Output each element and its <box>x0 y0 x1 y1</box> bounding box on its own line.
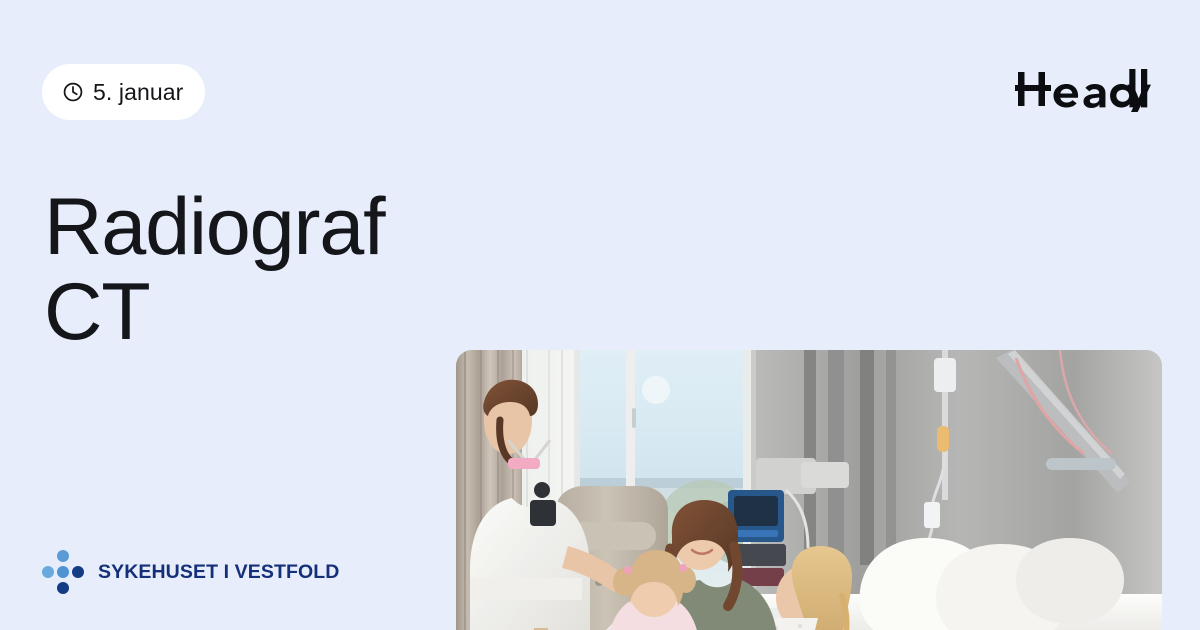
dot-bottom-icon <box>57 582 69 594</box>
article-photo <box>456 350 1162 630</box>
dot-right-icon <box>72 566 84 578</box>
organization-logo: SYKEHUSET I VESTFOLD <box>42 550 339 594</box>
dot-center-icon <box>57 566 69 578</box>
date-badge: 5. januar <box>42 64 205 120</box>
page-title: Radiograf CT <box>44 185 474 355</box>
clock-icon <box>62 81 84 103</box>
headly-logo <box>1015 64 1160 112</box>
sykehuset-dot-mark <box>42 550 84 594</box>
organization-name: SYKEHUSET I VESTFOLD <box>98 561 339 584</box>
dot-left-icon <box>42 566 54 578</box>
dot-top-icon <box>57 550 69 562</box>
date-label: 5. januar <box>93 79 183 106</box>
